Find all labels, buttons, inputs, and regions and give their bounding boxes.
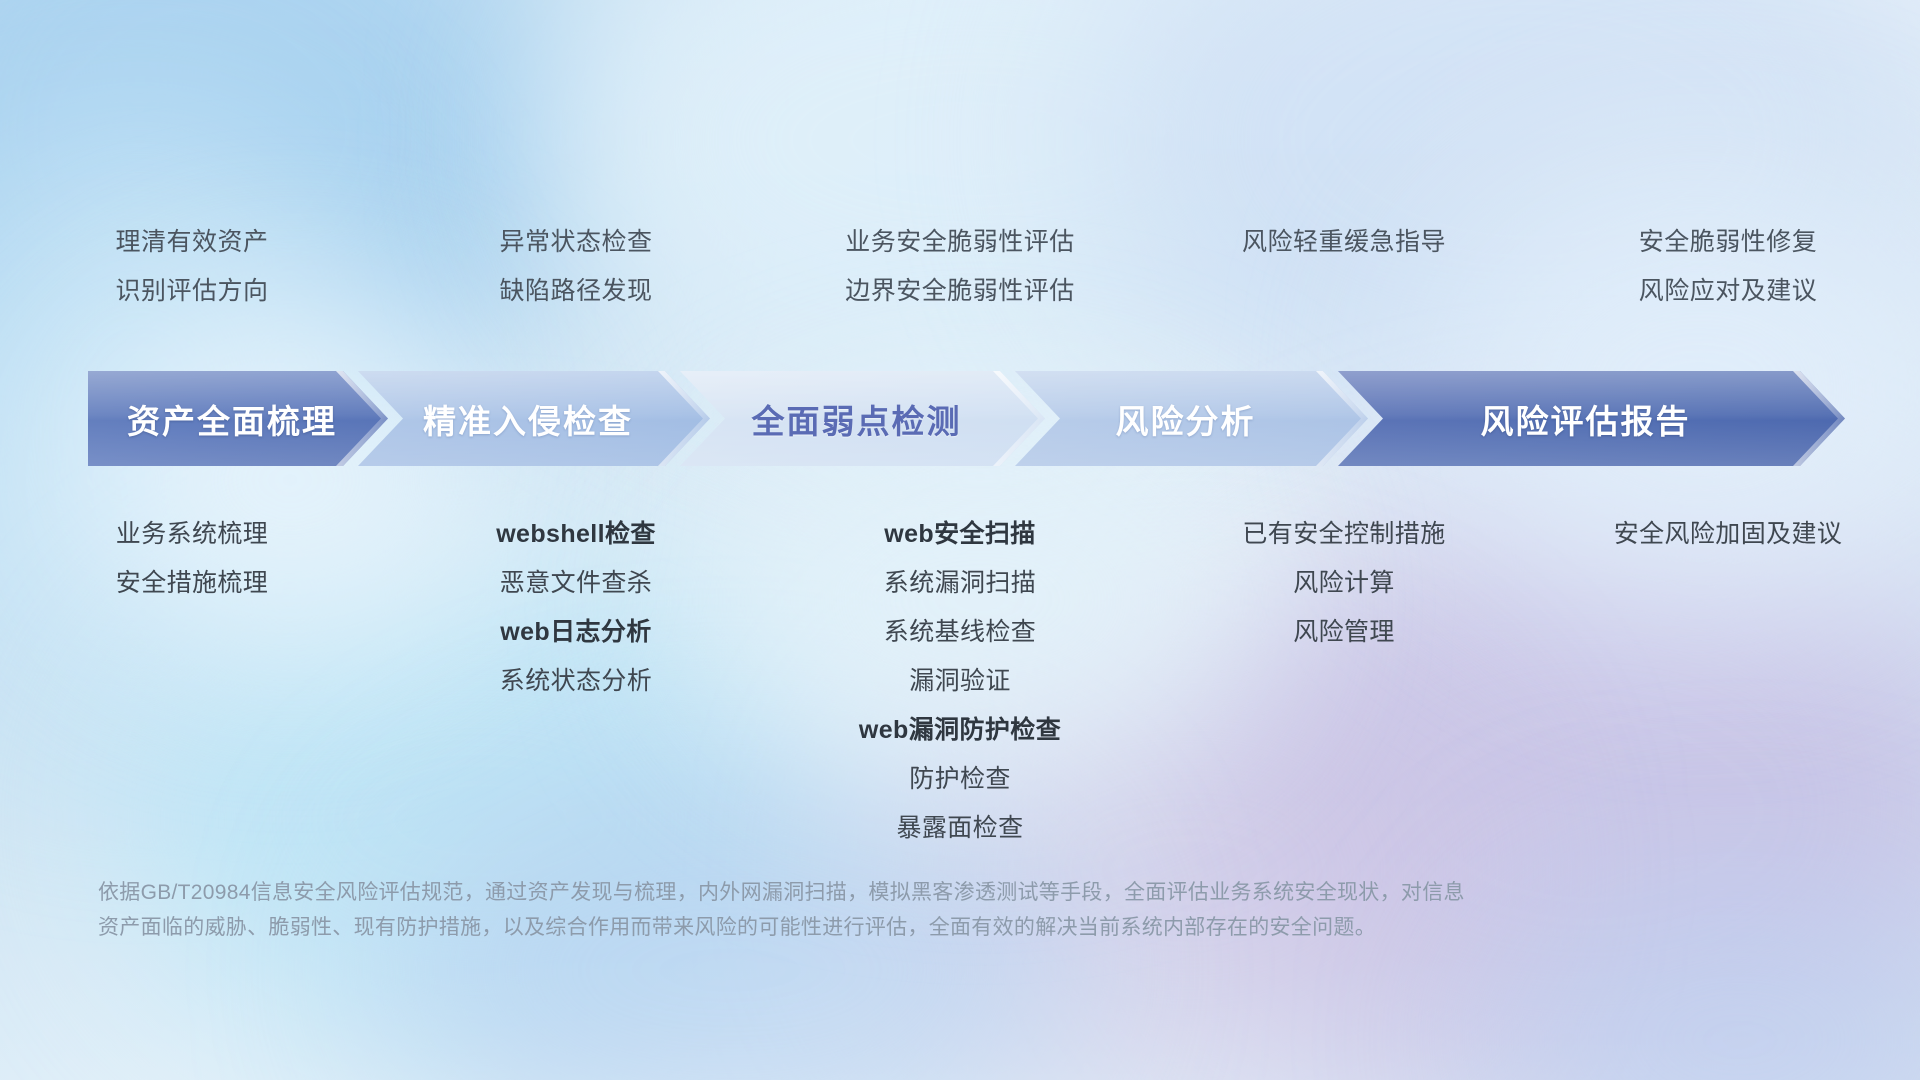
top-descriptor: 理清有效资产 [0,218,384,267]
detail-item: 业务系统梳理 [0,510,384,559]
detail-item: 已有安全控制措施 [1152,510,1536,559]
detail-item: 安全措施梳理 [0,559,384,608]
detail-item: 防护检查 [768,755,1152,804]
stage-title: 风险评估报告 [1481,395,1691,443]
detail-list-4: 已有安全控制措施 风险计算 风险管理 [1152,510,1536,853]
detail-list-1: 业务系统梳理 安全措施梳理 [0,510,384,853]
chevron-band: 资产全面梳理 精准入侵检查 全面弱点检测 风险分析 风险评估报告 [88,371,1845,466]
detail-item: 系统状态分析 [384,657,768,706]
stage-chevron-intrusion-check[interactable]: 精准入侵检查 [358,371,710,466]
top-descriptor: 风险应对及建议 [1536,267,1920,316]
detail-list-2: webshell检查 恶意文件查杀 web日志分析 系统状态分析 [384,510,768,853]
top-descriptor: 风险轻重缓急指导 [1152,218,1536,267]
detail-list-row: 业务系统梳理 安全措施梳理 webshell检查 恶意文件查杀 web日志分析 … [0,510,1920,853]
top-descriptor-group-2: 异常状态检查 缺陷路径发现 [384,218,768,316]
detail-item: 风险计算 [1152,559,1536,608]
top-descriptor: 异常状态检查 [384,218,768,267]
detail-item: web安全扫描 [768,510,1152,559]
detail-item: 暴露面检查 [768,804,1152,853]
detail-item: 漏洞验证 [768,657,1152,706]
detail-item: 系统漏洞扫描 [768,559,1152,608]
stage-title: 风险分析 [1116,395,1256,443]
detail-item: web漏洞防护检查 [768,706,1152,755]
top-descriptor-row: 理清有效资产 识别评估方向 异常状态检查 缺陷路径发现 业务安全脆弱性评估 边界… [0,218,1920,316]
footnote-line-1: 依据GB/T20984信息安全风险评估规范，通过资产发现与梳理，内外网漏洞扫描，… [98,875,1608,910]
process-diagram: 理清有效资产 识别评估方向 异常状态检查 缺陷路径发现 业务安全脆弱性评估 边界… [0,0,1920,1080]
detail-list-3: web安全扫描 系统漏洞扫描 系统基线检查 漏洞验证 web漏洞防护检查 防护检… [768,510,1152,853]
stage-title: 精准入侵检查 [423,395,633,443]
detail-item: 风险管理 [1152,608,1536,657]
top-descriptor: 业务安全脆弱性评估 [768,218,1152,267]
stage-chevron-risk-analysis[interactable]: 风险分析 [1015,371,1368,466]
top-descriptor: 边界安全脆弱性评估 [768,267,1152,316]
detail-item: web日志分析 [384,608,768,657]
top-descriptor-group-5: 安全脆弱性修复 风险应对及建议 [1536,218,1920,316]
top-descriptor: 缺陷路径发现 [384,267,768,316]
stage-chevron-asset-inventory[interactable]: 资产全面梳理 [88,371,388,466]
detail-list-5: 安全风险加固及建议 [1536,510,1920,853]
detail-item: webshell检查 [384,510,768,559]
stage-title: 资产全面梳理 [127,395,337,443]
detail-item: 安全风险加固及建议 [1536,510,1920,559]
chevron-arrow-icon [1791,371,1845,466]
top-descriptor: 识别评估方向 [0,267,384,316]
footnote-line-2: 资产面临的威胁、脆弱性、现有防护措施，以及综合作用而带来风险的可能性进行评估，全… [98,910,1608,945]
top-descriptor-group-4: 风险轻重缓急指导 [1152,218,1536,316]
detail-item: 恶意文件查杀 [384,559,768,608]
footnote: 依据GB/T20984信息安全风险评估规范，通过资产发现与梳理，内外网漏洞扫描，… [98,875,1608,945]
stage-title: 全面弱点检测 [752,395,962,443]
top-descriptor-group-1: 理清有效资产 识别评估方向 [0,218,384,316]
stage-chevron-risk-report[interactable]: 风险评估报告 [1338,371,1845,466]
top-descriptor-group-3: 业务安全脆弱性评估 边界安全脆弱性评估 [768,218,1152,316]
top-descriptor: 安全脆弱性修复 [1536,218,1920,267]
stage-chevron-weakness-detection[interactable]: 全面弱点检测 [680,371,1045,466]
detail-item: 系统基线检查 [768,608,1152,657]
